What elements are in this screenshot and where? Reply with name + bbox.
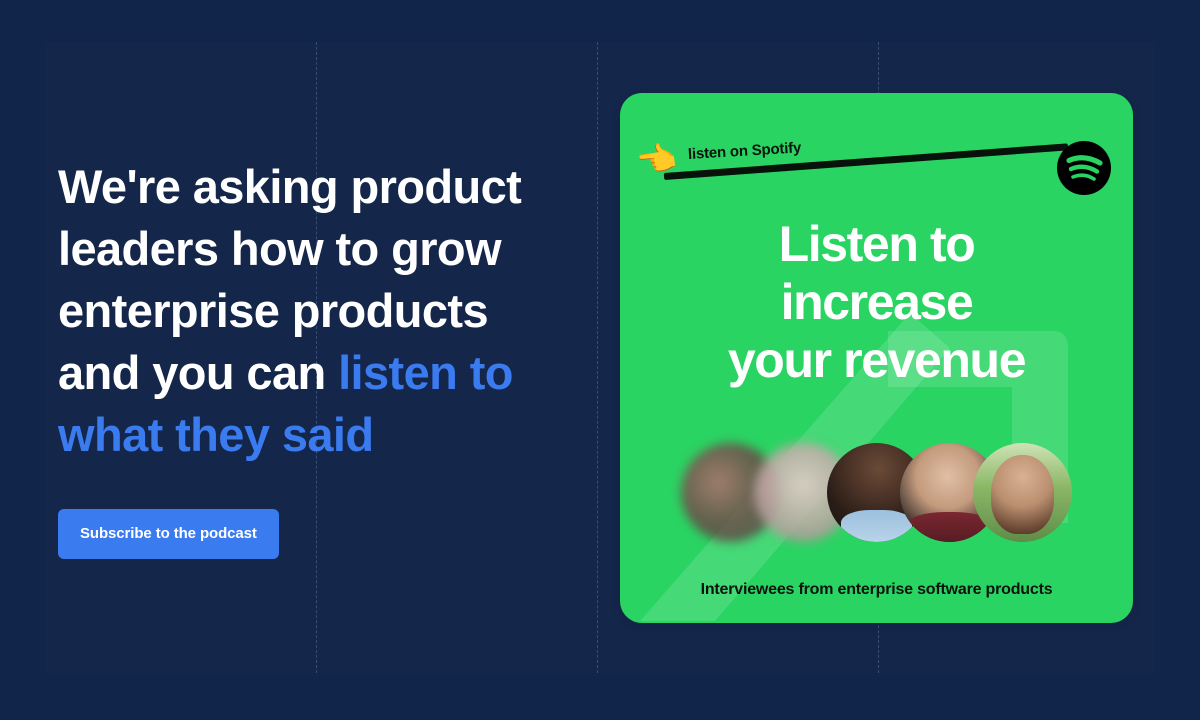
spotify-podcast-card[interactable]: 👈 listen on Spotify Listen to [620,93,1133,623]
headline-line-3: enterprise products [58,284,488,337]
interviewee-avatar-row [620,438,1133,548]
card-title-line-1: Listen to [620,215,1133,273]
content-slab: We're asking product leaders how to grow… [45,42,1155,673]
avatar-interviewee-3 [973,443,1072,542]
subscribe-to-podcast-button[interactable]: Subscribe to the podcast [58,509,279,559]
hero-text-column: We're asking product leaders how to grow… [45,156,620,559]
card-title: Listen to increase your revenue [620,215,1133,389]
hero-columns: We're asking product leaders how to grow… [45,42,1155,673]
headline-line-4-accent: listen to [338,346,513,399]
spotify-logo-icon[interactable] [1057,141,1111,195]
page-root: We're asking product leaders how to grow… [0,0,1200,720]
card-caption: Interviewees from enterprise software pr… [620,581,1133,599]
card-title-line-3: your revenue [620,331,1133,389]
card-header-strip: 👈 listen on Spotify [620,123,1133,201]
headline-line-5-accent: what they said [58,408,373,461]
listen-on-spotify-label: listen on Spotify [687,139,801,163]
headline-line-1: We're asking product [58,160,521,213]
page-title: We're asking product leaders how to grow… [58,156,610,466]
card-title-line-2: increase [620,273,1133,331]
podcast-card-column: 👈 listen on Spotify Listen to [620,93,1155,623]
headline-line-2: leaders how to grow [58,222,501,275]
headline-line-4-plain: and you can [58,346,338,399]
